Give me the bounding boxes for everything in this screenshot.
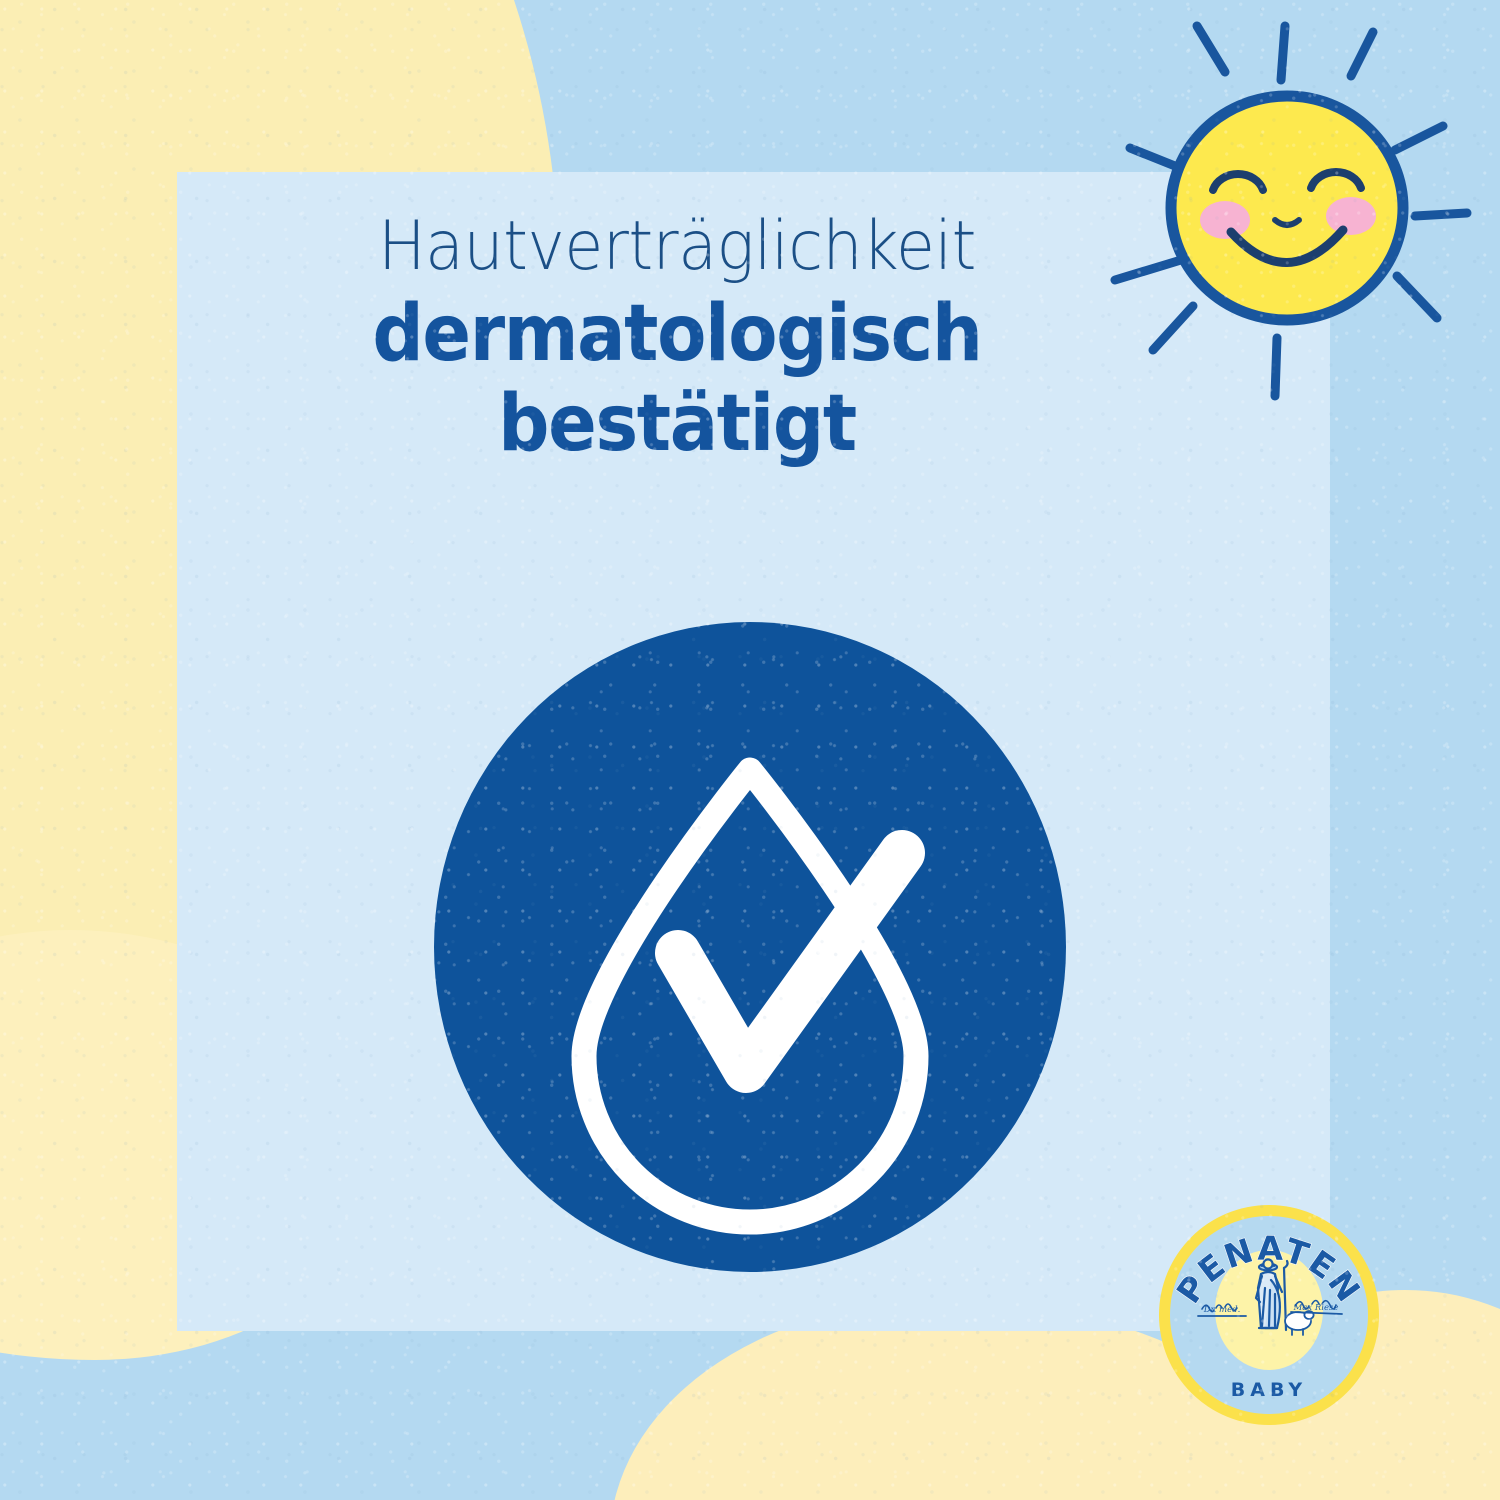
smiling-sun-icon (1085, 8, 1485, 408)
dermatologically-tested-badge (434, 622, 1066, 1272)
logo-signature-right: Max Riese (1293, 1303, 1339, 1313)
headline-block: Hautverträglichkeit dermatologisch bestä… (177, 212, 1177, 464)
logo-signature-left: Dr. med. (1203, 1305, 1241, 1315)
headline-line-3: bestätigt (217, 385, 1137, 465)
penaten-baby-logo: Dr. med. Max Riese PENATEN BABY (1158, 1204, 1380, 1426)
headline-line-1: Hautverträglichkeit (212, 212, 1142, 281)
promo-image: Hautverträglichkeit dermatologisch bestä… (0, 0, 1500, 1500)
headline-line-2: dermatologisch (217, 295, 1137, 375)
sun-cheek-right (1326, 197, 1376, 235)
logo-sub-brand-text: BABY (1231, 1379, 1307, 1401)
sun-cheek-left (1200, 201, 1250, 239)
water-drop-check-icon (434, 622, 1066, 1272)
penaten-logo-svg: Dr. med. Max Riese PENATEN BABY (1158, 1204, 1380, 1426)
sun-svg (1085, 8, 1485, 408)
